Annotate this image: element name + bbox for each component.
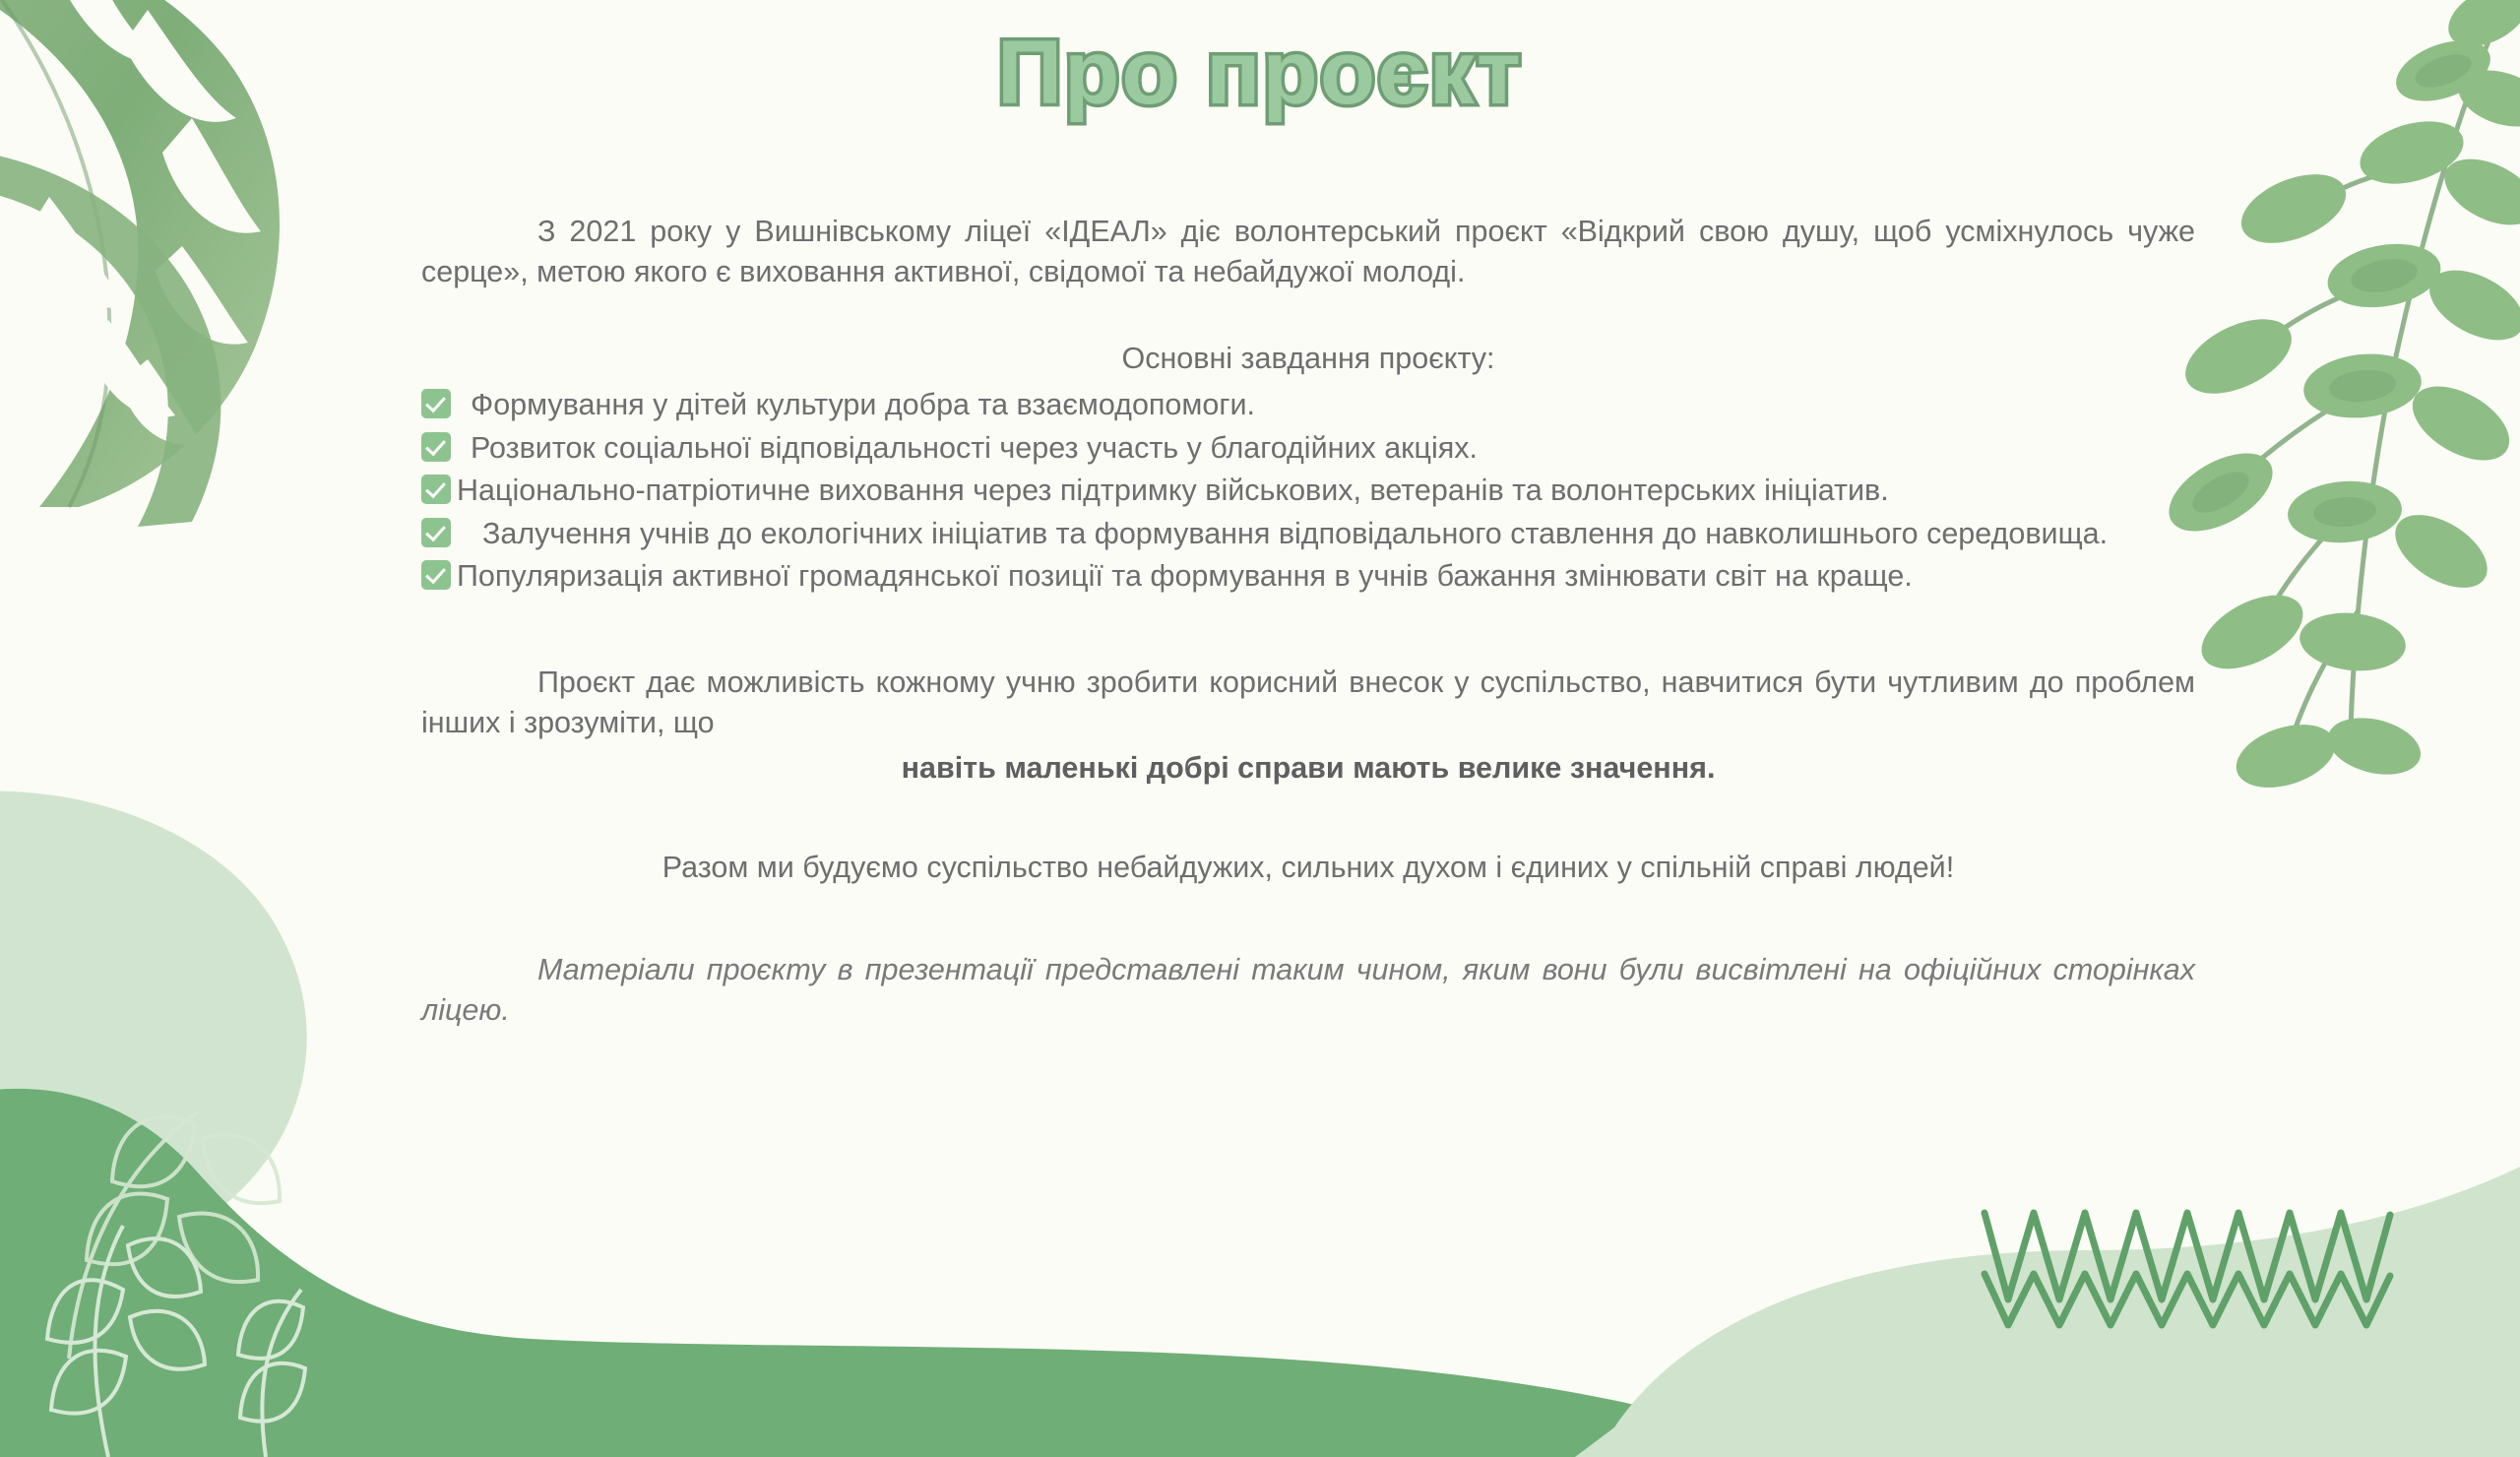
tasks-list: Формування у дітей культури добра та вза… [421,385,2195,597]
list-item: Популяризація активної громадянської поз… [421,556,2195,597]
check-square-icon [421,518,451,547]
list-item: Формування у дітей культури добра та вза… [421,385,2195,425]
list-item-label: Національно-патріотичне виховання через … [457,474,1889,507]
slide-body: З 2021 року у Вишнівському ліцеї «ІДЕАЛ»… [421,212,2195,1032]
check-square-icon [421,389,451,418]
tasks-heading: Основні завдання проєкту: [421,339,2195,379]
slide-page: Про проєкт З 2021 року у Вишнівському лі… [0,0,2520,1418]
page-title-wrap: Про проєкт [0,26,2520,121]
list-item: Розвиток соціальної відповідальності чер… [421,428,2195,469]
list-item-label: Розвиток соціальної відповідальності чер… [471,431,1478,465]
check-square-icon [421,475,451,504]
check-square-icon [421,432,451,462]
list-item: Залучення учнів до екологічних ініціатив… [421,514,2195,554]
note-paragraph: Матеріали проєкту в презентації представ… [421,950,2195,1032]
outcome-emphasis: навіть маленькі добрі справи мають велик… [421,748,2195,789]
list-item-label: Популяризація активної громадянської поз… [457,559,1913,593]
outcome-paragraph: Проєкт дає можливість кожному учню зроби… [421,663,2195,744]
list-item-label: Залучення учнів до екологічних ініціатив… [482,517,2108,550]
check-square-icon [421,560,451,590]
intro-paragraph: З 2021 року у Вишнівському ліцеї «ІДЕАЛ»… [421,212,2195,293]
list-item-label: Формування у дітей культури добра та вза… [471,388,1255,421]
list-item: Національно-патріотичне виховання через … [421,471,2195,511]
page-title: Про проєкт [997,26,1523,121]
together-paragraph: Разом ми будуємо суспільство небайдужих,… [421,848,2195,888]
